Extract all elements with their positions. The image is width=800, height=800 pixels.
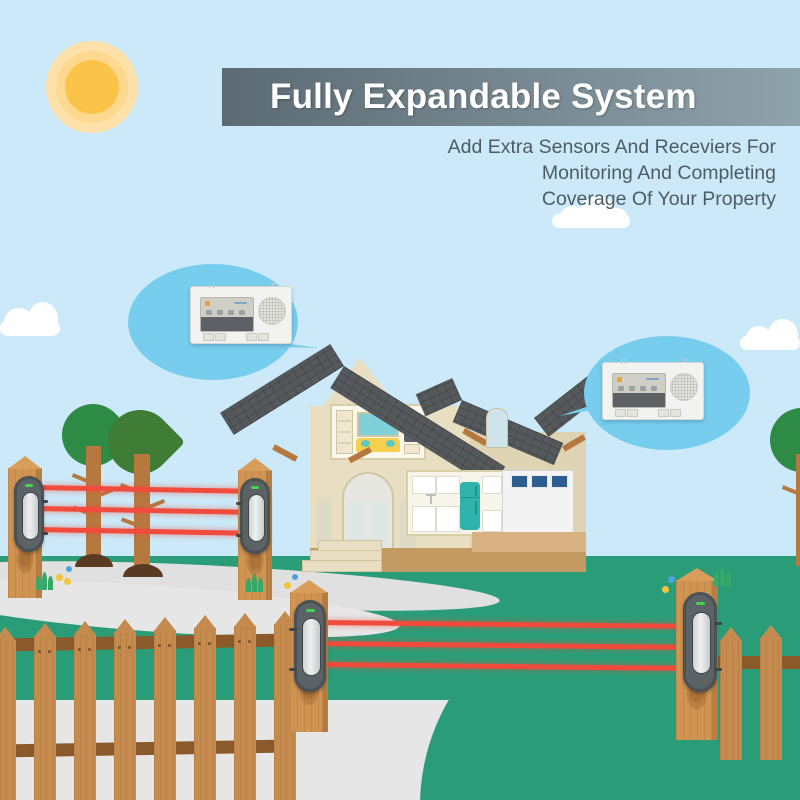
callout-left	[128, 264, 358, 394]
panel-button[interactable]	[246, 333, 257, 341]
panel-button[interactable]	[615, 409, 626, 417]
beam-sensor[interactable]	[240, 478, 270, 554]
flower-icon	[66, 566, 72, 572]
panel-button[interactable]	[627, 409, 638, 417]
status-led	[306, 609, 315, 612]
panel-button[interactable]	[203, 333, 214, 341]
status-led	[696, 602, 705, 605]
alarm-control-panel[interactable]	[190, 286, 292, 344]
flower-icon	[64, 578, 71, 585]
flower-icon	[668, 576, 675, 583]
illustration-canvas: Fully Expandable System Add Extra Sensor…	[0, 0, 800, 800]
flower-icon	[662, 586, 669, 593]
flower-icon	[292, 574, 298, 580]
kitchen-cutaway	[406, 470, 506, 536]
beam-sensor[interactable]	[683, 592, 717, 692]
speaker-grille	[670, 373, 698, 401]
entry-step	[302, 560, 382, 572]
subtitle-line-1: Add Extra Sensors And Receviers For	[300, 134, 776, 160]
panel-button[interactable]	[215, 333, 226, 341]
callout-right	[544, 336, 754, 466]
panel-button[interactable]	[258, 333, 269, 341]
flower-icon	[56, 574, 63, 581]
speaker-grille	[258, 297, 286, 325]
subtitle-line-3: Coverage Of Your Property	[300, 186, 776, 212]
panel-button[interactable]	[658, 409, 669, 417]
refrigerator-icon	[460, 482, 480, 530]
status-led	[251, 486, 259, 489]
lcd-display	[612, 373, 666, 408]
alarm-control-panel[interactable]	[602, 362, 704, 420]
status-led	[25, 484, 33, 487]
headline-banner: Fully Expandable System	[222, 68, 800, 126]
subtitle-block: Add Extra Sensors And Receviers For Moni…	[300, 134, 776, 212]
page-title: Fully Expandable System	[222, 77, 697, 117]
flower-icon	[284, 582, 291, 589]
beam-sensor[interactable]	[294, 600, 326, 692]
gable-window	[486, 408, 508, 448]
subtitle-line-2: Monitoring And Completing	[300, 160, 776, 186]
lcd-display	[200, 297, 254, 332]
panel-button[interactable]	[670, 409, 681, 417]
beam-sensor[interactable]	[14, 476, 44, 552]
